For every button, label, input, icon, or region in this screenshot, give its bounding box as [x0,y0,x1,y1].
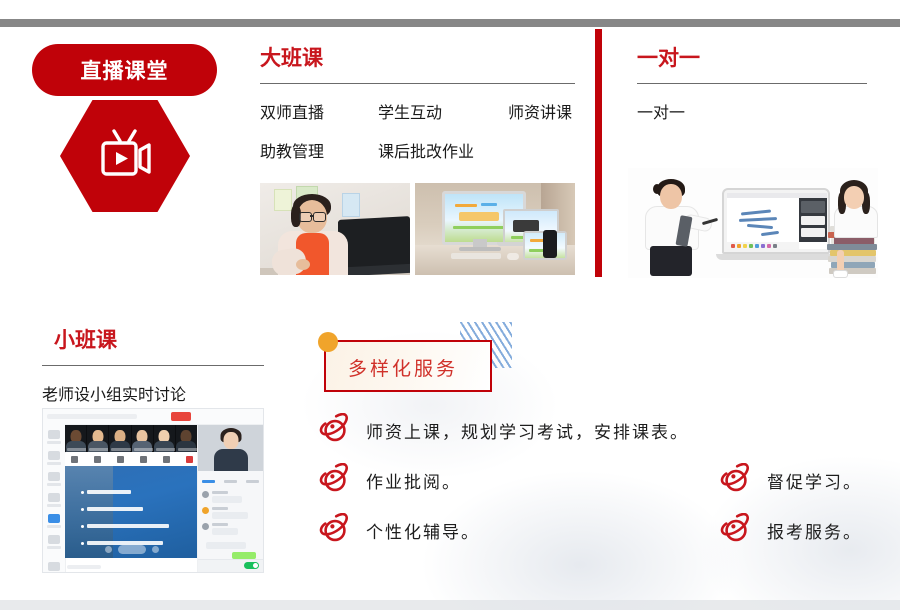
services-row: 师资上课，规划学习考试，安排课表。 [318,405,888,455]
services-row: 作业批阅。 督促学习。 [318,455,888,505]
live-video-camera-icon [60,100,190,212]
lesson-slide [65,466,198,558]
slide-canvas: 直播课堂 大班课 双师直播 学生互动 师资讲课 助教管理 [0,0,900,610]
section-divider [595,29,602,277]
one-on-one-feature-row: 一对一 [637,99,867,123]
small-class-live-room-screenshot [42,408,264,573]
service-label: 督促学习。 [767,468,862,493]
services-list: 师资上课，规划学习考试，安排课表。 作业批阅。 [318,405,888,555]
whiteboard-toolbar[interactable] [65,453,198,466]
hexagon-badge [60,100,190,212]
big-class-rule [260,83,575,84]
one-on-one-tutoring-photo [628,168,878,278]
leave-room-button[interactable] [171,412,191,421]
diversified-services-label: 多样化服务 [348,354,458,381]
service-item: 师资上课，规划学习考试，安排课表。 [318,413,689,447]
small-class-caption-row: 老师设小组实时讨论 [42,381,264,405]
tool-rail[interactable] [43,424,66,572]
one-on-one-title: 一对一 [637,48,867,69]
top-gray-band [0,19,900,27]
multi-device-desk-photo [415,183,575,275]
planet-icon [719,463,753,497]
service-label: 作业批阅。 [366,468,461,493]
one-on-one-section: 一对一 一对一 [637,48,867,123]
mic-toggle[interactable] [244,562,259,569]
services-row: 个性化辅导。 报考服务。 [318,505,888,555]
small-class-rule [42,365,264,366]
gold-dot-accent-icon [318,332,338,352]
small-class-section: 小班课 老师设小组实时讨论 [42,330,264,405]
big-class-feature-row-1: 双师直播 学生互动 师资讲课 [260,99,575,123]
service-item: 督促学习。 [719,463,888,497]
planet-icon [719,513,753,547]
teacher-at-laptop-photo [260,183,410,275]
planet-icon [318,513,352,547]
bottom-gray-band [0,600,900,610]
feature-tag: 助教管理 [260,138,378,162]
live-classroom-pill: 直播课堂 [32,44,217,96]
big-class-section: 大班课 双师直播 学生互动 师资讲课 助教管理 课后批改作业 [260,48,575,162]
service-label: 报考服务。 [767,518,862,543]
feature-tag: 学生互动 [378,99,508,123]
feature-tag: 双师直播 [260,99,378,123]
diversified-services-badge: 多样化服务 [318,332,494,394]
big-class-title: 大班课 [260,48,575,69]
planet-icon [318,463,352,497]
small-class-caption: 老师设小组实时讨论 [42,381,186,405]
chat-panel[interactable] [197,425,263,572]
service-item: 个性化辅导。 [318,513,480,547]
service-item: 报考服务。 [719,513,888,547]
small-class-title: 小班课 [42,330,264,351]
feature-tag: 师资讲课 [508,99,572,123]
live-classroom-pill-label: 直播课堂 [81,55,169,85]
feature-tag: 课后批改作业 [378,138,474,162]
feature-tag: 一对一 [637,99,685,123]
participant-video-strip [65,425,198,452]
big-class-feature-row-2: 助教管理 课后批改作业 [260,138,575,162]
service-label: 师资上课，规划学习考试，安排课表。 [366,418,689,443]
one-on-one-rule [637,83,867,84]
service-item: 作业批阅。 [318,463,461,497]
planet-icon [318,413,352,447]
service-label: 个性化辅导。 [366,518,480,543]
